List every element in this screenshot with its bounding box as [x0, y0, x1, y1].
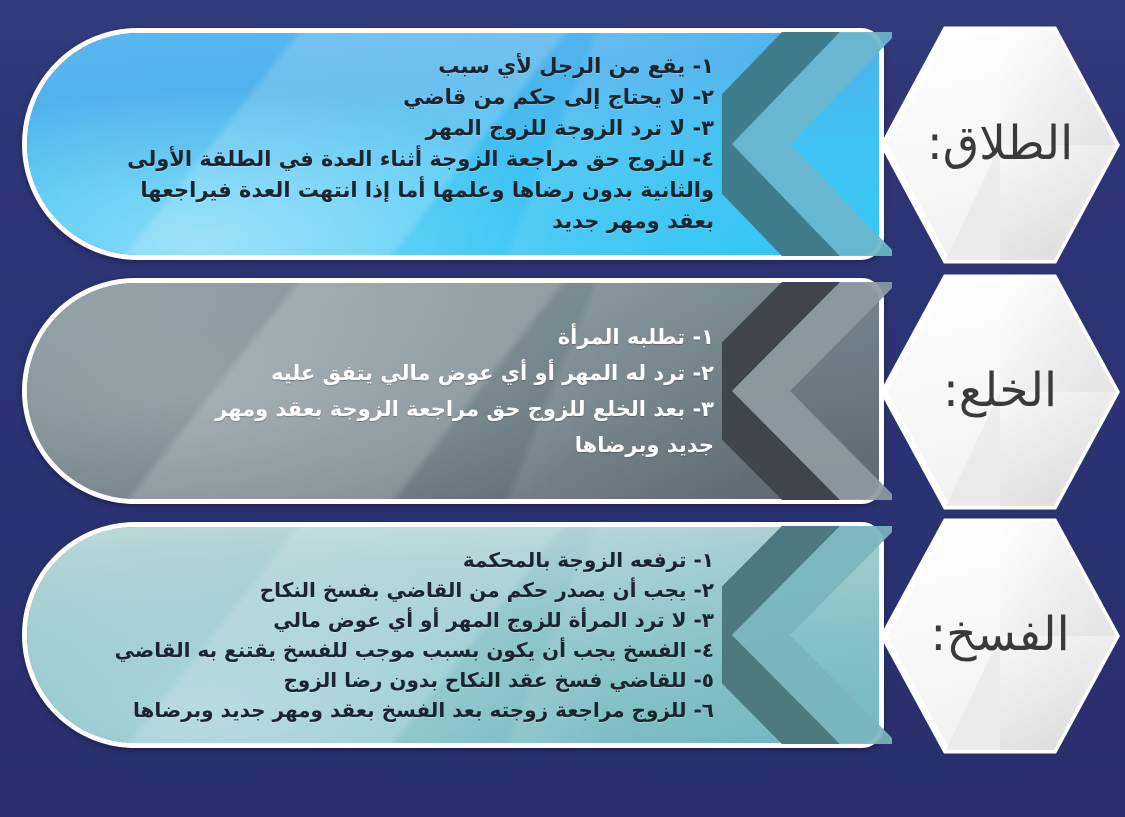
talaq-text-block: ١- يقع من الرجل لأي سبب ٢- لا يحتاج إلى …	[154, 28, 714, 260]
talaq-line-2: ٢- لا يحتاج إلى حكم من قاضي	[154, 82, 714, 113]
infographic-board: ١- يقع من الرجل لأي سبب ٢- لا يحتاج إلى …	[0, 0, 1125, 817]
talaq-line-4: ٤- للزوج حق مراجعة الزوجة أثناء العدة في…	[154, 144, 714, 175]
khul-text-block: ١- تطلبه المرأة ٢- ترد له المهر أو أي عو…	[154, 278, 714, 504]
faskh-line-5: ٥- للقاضي فسخ عقد النكاح بدون رضا الزوج	[114, 665, 714, 695]
khul-line-4: جديد وبرضاها	[154, 427, 714, 463]
faskh-line-1: ١- ترفعه الزوجة بالمحكمة	[114, 545, 714, 575]
faskh-chevron-group	[722, 526, 892, 744]
section-talaq: ١- يقع من الرجل لأي سبب ٢- لا يحتاج إلى …	[0, 28, 1125, 260]
talaq-line-6: بعقد ومهر جديد	[154, 206, 714, 237]
khul-hexagon-title: الخلع:	[880, 274, 1120, 510]
faskh-line-3: ٣- لا ترد المرأة للزوج المهر أو أي عوض م…	[114, 605, 714, 635]
talaq-hexagon-title: الطلاق:	[880, 26, 1120, 264]
faskh-text-block: ١- ترفعه الزوجة بالمحكمة ٢- يجب أن يصدر …	[114, 522, 714, 748]
faskh-panel: ١- ترفعه الزوجة بالمحكمة ٢- يجب أن يصدر …	[22, 522, 884, 748]
talaq-line-5: والثانية بدون رضاها وعلمها أما إذا انتهت…	[154, 175, 714, 206]
khul-hexagon: الخلع:	[880, 274, 1120, 510]
talaq-hexagon: الطلاق:	[880, 26, 1120, 264]
khul-line-1: ١- تطلبه المرأة	[154, 319, 714, 355]
khul-line-2: ٢- ترد له المهر أو أي عوض مالي يتفق عليه	[154, 355, 714, 391]
section-faskh: ١- ترفعه الزوجة بالمحكمة ٢- يجب أن يصدر …	[0, 522, 1125, 748]
khul-panel: ١- تطلبه المرأة ٢- ترد له المهر أو أي عو…	[22, 278, 884, 504]
faskh-hexagon: الفسخ:	[880, 518, 1120, 754]
faskh-line-4: ٤- الفسخ يجب أن يكون بسبب موجب للفسخ يقت…	[114, 635, 714, 665]
talaq-chevron-group	[722, 32, 892, 256]
khul-chevron-group	[722, 282, 892, 500]
section-khul: ١- تطلبه المرأة ٢- ترد له المهر أو أي عو…	[0, 278, 1125, 504]
khul-line-3: ٣- بعد الخلع للزوج حق مراجعة الزوجة بعقد…	[154, 391, 714, 427]
talaq-line-1: ١- يقع من الرجل لأي سبب	[154, 51, 714, 82]
faskh-line-2: ٢- يجب أن يصدر حكم من القاضي بفسخ النكاح	[114, 575, 714, 605]
faskh-line-6: ٦- للزوج مراجعة زوجته بعد الفسخ بعقد ومه…	[114, 695, 714, 725]
faskh-hexagon-title: الفسخ:	[880, 518, 1120, 754]
talaq-panel: ١- يقع من الرجل لأي سبب ٢- لا يحتاج إلى …	[22, 28, 884, 260]
talaq-line-3: ٣- لا ترد الزوجة للزوج المهر	[154, 113, 714, 144]
